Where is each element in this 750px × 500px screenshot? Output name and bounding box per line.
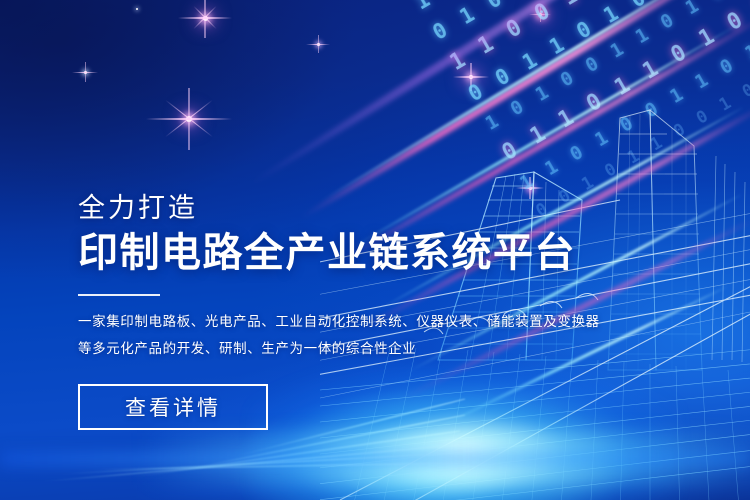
page-title: 印制电路全产业链系统平台 <box>78 230 598 277</box>
hero-content: 全力打造 印制电路全产业链系统平台 一家集印制电路板、光电产品、工业自动化控制系… <box>78 193 598 430</box>
bottom-light-band <box>0 452 750 466</box>
description-line-1: 一家集印制电路板、光电产品、工业自动化控制系统、仪器仪表、储能装置及变换器 <box>78 309 598 335</box>
description-line-2: 等多元化产品的开发、研制、生产为一体的综合性企业 <box>78 336 598 362</box>
description-block: 一家集印制电路板、光电产品、工业自动化控制系统、仪器仪表、储能装置及变换器 等多… <box>78 309 598 362</box>
title-divider <box>78 294 160 296</box>
binary-row: 1 0 0 1 1 0 1 0 1 0 1 1 0 0 1 1 0 1 0 1 … <box>412 0 750 14</box>
view-details-button[interactable]: 查看详情 <box>78 384 268 430</box>
eyebrow-text: 全力打造 <box>78 193 598 224</box>
binary-row: 0 1 0 1 1 0 0 1 0 1 1 0 1 0 0 1 1 0 1 1 … <box>430 0 750 44</box>
hero-banner: 1 0 1 1 0 0 1 0 1 1 0 1 0 0 1 1 0 1 0 1 … <box>0 0 750 500</box>
